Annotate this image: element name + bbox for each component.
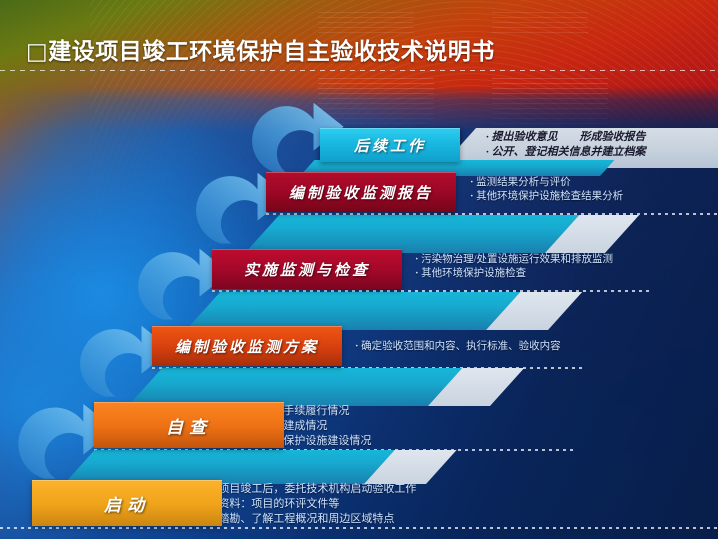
step-5-riser[interactable]: 编制验收监测报告 <box>266 172 456 212</box>
hollow-square-bullet-icon: □ <box>26 39 48 65</box>
step-1-bullet-3: 现场踏勘、了解工程概况和周边区域特点 <box>190 512 416 527</box>
step-2-label: 自查 <box>166 413 212 438</box>
step-1-label: 启动 <box>104 491 150 516</box>
step-2-riser[interactable]: 自查 <box>94 402 284 448</box>
step-6-bullet-1: 提出验收意见 形成验收报告 <box>486 130 646 145</box>
step-4-tread <box>245 215 579 253</box>
step-6-riser-face[interactable]: 后续工作 <box>320 128 460 162</box>
step-3-riser[interactable]: 编制验收监测方案 <box>152 326 342 366</box>
step-5-bullet-2: 其他环境保护设施检查结果分析 <box>470 190 623 204</box>
step-6-bullet-2: 公开、登记相关信息并建立档案 <box>486 145 646 160</box>
step-1-riser[interactable]: 启动 <box>32 480 222 526</box>
step-4-bullet-2: 其他环境保护设施检查 <box>415 267 613 281</box>
step-2-tread <box>128 368 462 406</box>
step-3-bullets: 确定验收范围和内容、执行标准、验收内容 <box>355 340 561 354</box>
step-3-tread <box>186 292 520 330</box>
step-4-bullet-1: 污染物治理/处置设施运行效果和排放监测 <box>415 253 613 267</box>
step-1-bullets: 建设项目竣工后，委托技术机构启动验收工作 查阅资料：项目的环评文件等 现场踏勘、… <box>190 482 416 528</box>
title-divider <box>0 70 718 71</box>
step-6-label-text: 后续工作 <box>354 135 426 156</box>
step-1-bullet-2: 查阅资料：项目的环评文件等 <box>190 497 416 512</box>
step-3-bullet-1: 确定验收范围和内容、执行标准、验收内容 <box>355 340 561 354</box>
slide-canvas: □建设项目竣工环境保护自主验收技术说明书 后续工作 后续工作 提出验收意见 形成… <box>0 0 718 539</box>
step-1-bullet-1: 建设项目竣工后，委托技术机构启动验收工作 <box>190 482 416 497</box>
step-3-label: 编制验收监测方案 <box>175 336 319 357</box>
step-5-bullet-1: 监测结果分析与评价 <box>470 176 623 190</box>
step-4-riser[interactable]: 实施监测与检查 <box>212 249 402 289</box>
step-4-bullets: 污染物治理/处置设施运行效果和排放监测 其他环境保护设施检查 <box>415 253 613 282</box>
page-title-text: 建设项目竣工环境保护自主验收技术说明书 <box>48 39 495 65</box>
step-4-label: 实施监测与检查 <box>244 259 370 280</box>
step-5-label: 编制验收监测报告 <box>289 182 433 203</box>
slide-title-bar: □建设项目竣工环境保护自主验收技术说明书 <box>0 28 718 70</box>
step-1-tread <box>64 450 395 484</box>
page-title: □建设项目竣工环境保护自主验收技术说明书 <box>26 32 495 66</box>
step-1-divider <box>0 527 718 529</box>
step-6-bullets: 提出验收意见 形成验收报告 公开、登记相关信息并建立档案 <box>486 130 646 160</box>
step-5-bullets: 监测结果分析与评价 其他环境保护设施检查结果分析 <box>470 176 623 205</box>
